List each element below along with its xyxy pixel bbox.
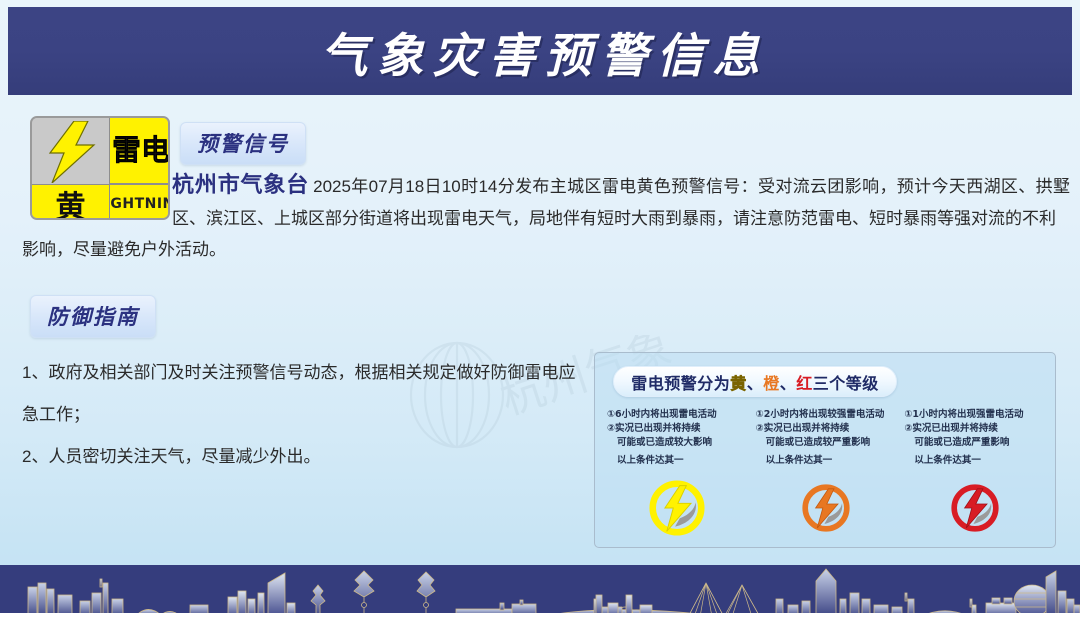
guide-item: 2、人员密切关注天气，尽量减少外出。 — [22, 436, 592, 478]
warning-body-continued: 影响，尽量避免户外活动。 — [22, 234, 1070, 266]
level-criterion-2: ②实况已出现并将持续 — [904, 422, 1045, 436]
level-criterion-1: ①2小时内将出现较强雷电活动 — [756, 408, 897, 422]
level-criterion-1: ①6小时内将出现雷电活动 — [607, 408, 748, 422]
guide-item: 急工作； — [22, 394, 592, 436]
title-orange: 橙 — [763, 374, 780, 393]
level-column-orange: ①2小时内将出现较强雷电活动 ②实况已出现并将持续 可能或已造成较严重影响 以上… — [752, 408, 901, 468]
level-criterion-3: 可能或已造成较严重影响 — [756, 436, 897, 450]
level-column-yellow: ①6小时内将出现雷电活动 ②实况已出现并将持续 可能或已造成较大影响 以上条件达… — [603, 408, 752, 468]
section-tag-guide: 防御指南 — [30, 295, 156, 338]
level-icons-row — [603, 475, 1049, 541]
lightning-warning-icon: 雷电 黄 LIGHTNING — [30, 116, 170, 220]
warning-poster: 气象灾害预警信息 杭州气象 雷电 黄 LIGHTNING — [0, 0, 1080, 617]
level-criterion-note: 以上条件达其一 — [756, 454, 897, 468]
title-yellow: 黄 — [730, 374, 747, 393]
title-red: 红 — [796, 374, 813, 393]
hazard-type-label: 雷电 — [110, 118, 170, 184]
level-criterion-note: 以上条件达其一 — [607, 454, 748, 468]
guide-list: 1、政府及相关部门及时关注预警信号动态，根据相关规定做好防御雷电应 急工作； 2… — [22, 352, 592, 478]
level-icon-yellow — [603, 475, 752, 541]
level-explanation-panel: 雷电预警分为黄、橙、红三个等级 ①6小时内将出现雷电活动 ②实况已出现并将持续 … — [594, 352, 1056, 548]
level-char-label: 黄 — [32, 184, 110, 220]
english-hazard-label: LIGHTNING — [110, 184, 170, 220]
level-columns: ①6小时内将出现雷电活动 ②实况已出现并将持续 可能或已造成较大影响 以上条件达… — [603, 408, 1049, 468]
bottom-edge — [0, 613, 1080, 617]
level-criterion-2: ②实况已出现并将持续 — [607, 422, 748, 436]
lightning-bolt-icon — [32, 118, 110, 184]
guide-item: 1、政府及相关部门及时关注预警信号动态，根据相关规定做好防御雷电应 — [22, 352, 592, 394]
title-suffix: 三个等级 — [813, 374, 879, 393]
issuer-name: 杭州市气象台 — [172, 173, 309, 198]
footer-skyline — [0, 565, 1080, 617]
header-banner: 气象灾害预警信息 — [8, 7, 1072, 95]
hazard-char-1: 雷电 — [112, 137, 170, 165]
warning-text-block: 杭州市气象台2025年07月18日10时14分发布主城区雷电黄色预警信号：受对流… — [172, 170, 1070, 235]
level-icon-red — [900, 475, 1049, 541]
level-criterion-3: 可能或已造成严重影响 — [904, 436, 1045, 450]
level-icon-orange — [752, 475, 901, 541]
level-column-red: ①1小时内将出现强雷电活动 ②实况已出现并将持续 可能或已造成严重影响 以上条件… — [900, 408, 1049, 468]
title-sep-2: 、 — [780, 374, 797, 393]
level-criterion-3: 可能或已造成较大影响 — [607, 436, 748, 450]
level-panel-title: 雷电预警分为黄、橙、红三个等级 — [613, 366, 897, 397]
level-criterion-note: 以上条件达其一 — [904, 454, 1045, 468]
title-prefix: 雷电预警分为 — [631, 374, 730, 393]
level-criterion-2: ②实况已出现并将持续 — [756, 422, 897, 436]
title-sep-1: 、 — [747, 374, 764, 393]
page-title: 气象灾害预警信息 — [312, 17, 769, 86]
section-tag-signal: 预警信号 — [180, 122, 306, 165]
level-criterion-1: ①1小时内将出现强雷电活动 — [904, 408, 1045, 422]
